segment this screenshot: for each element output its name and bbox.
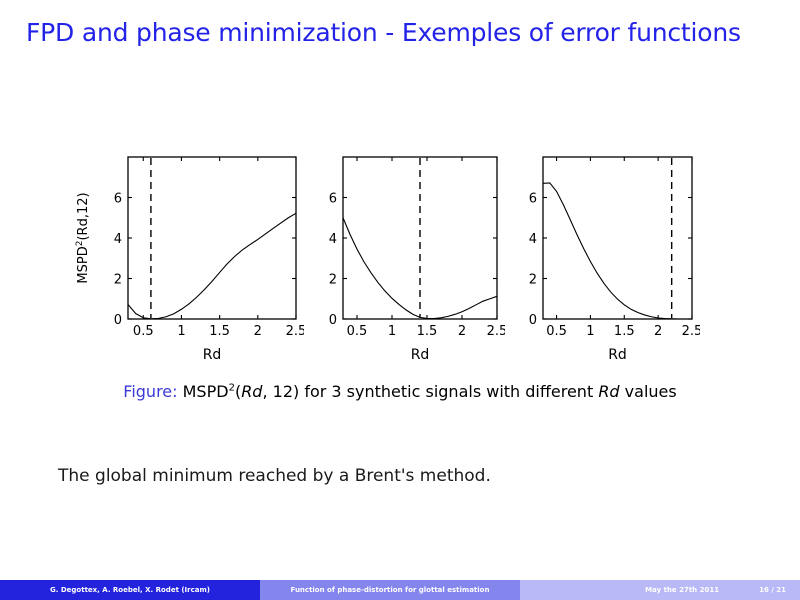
figure-caption-text3: , 12) for 3 synthetic signals with diffe… — [262, 382, 598, 401]
slide-footer: G. Degottex, A. Roebel, X. Rodet (Ircam)… — [0, 580, 800, 600]
svg-text:1: 1 — [388, 324, 396, 339]
svg-text:0: 0 — [114, 313, 122, 328]
figure-caption-var2: Rd — [598, 382, 619, 401]
svg-text:2.5: 2.5 — [286, 324, 304, 339]
plot-svg-3: 0.511.522.50246Rd — [520, 150, 700, 370]
plot-panel-3: 0.511.522.50246Rd — [520, 150, 700, 370]
figure-caption-text1: MSPD — [183, 382, 229, 401]
svg-text:4: 4 — [329, 232, 337, 247]
plot-curve — [128, 213, 296, 318]
svg-text:1.5: 1.5 — [417, 324, 438, 339]
plot-curve — [543, 183, 692, 319]
svg-text:1: 1 — [586, 324, 594, 339]
x-axis-label: Rd — [411, 347, 430, 363]
plot-svg-2: 0.511.522.50246Rd — [320, 150, 505, 370]
svg-text:6: 6 — [529, 192, 537, 207]
footer-authors: G. Degottex, A. Roebel, X. Rodet (Ircam) — [0, 580, 260, 600]
y-axis-label: MSPD2(Rd,12) — [75, 192, 91, 283]
x-axis-label: Rd — [203, 347, 222, 363]
svg-text:0.5: 0.5 — [347, 324, 368, 339]
svg-text:2.5: 2.5 — [487, 324, 505, 339]
plot-svg-1: 0.511.522.50246RdMSPD2(Rd,12) — [60, 150, 304, 370]
svg-text:2.5: 2.5 — [682, 324, 700, 339]
x-axis-label: Rd — [608, 347, 627, 363]
footer-paper-title: Function of phase-distortion for glottal… — [260, 580, 520, 600]
plot-panel-1: 0.511.522.50246RdMSPD2(Rd,12) — [60, 150, 304, 370]
figure-caption-key: Figure: — [123, 382, 177, 401]
svg-text:6: 6 — [114, 192, 122, 207]
svg-text:4: 4 — [529, 232, 537, 247]
svg-text:2: 2 — [254, 324, 262, 339]
plot-panel-2: 0.511.522.50246Rd — [320, 150, 505, 370]
footer-meta: May the 27th 2011 16 / 21 — [520, 580, 800, 600]
figure-plots-container: 0.511.522.50246RdMSPD2(Rd,12) 0.511.522.… — [0, 150, 800, 380]
figure-caption-var1: Rd — [241, 382, 262, 401]
svg-text:1.5: 1.5 — [209, 324, 230, 339]
svg-text:2: 2 — [329, 273, 337, 288]
svg-text:2: 2 — [529, 273, 537, 288]
svg-text:0.5: 0.5 — [133, 324, 154, 339]
figure-caption-text4: values — [620, 382, 677, 401]
svg-text:6: 6 — [329, 192, 337, 207]
svg-text:0.5: 0.5 — [546, 324, 567, 339]
svg-text:2: 2 — [654, 324, 662, 339]
svg-text:2: 2 — [458, 324, 466, 339]
svg-text:1.5: 1.5 — [614, 324, 635, 339]
figure-caption: Figure: MSPD2(Rd, 12) for 3 synthetic si… — [0, 382, 800, 401]
slide-body-text: The global minimum reached by a Brent's … — [58, 466, 491, 486]
svg-text:1: 1 — [177, 324, 185, 339]
svg-text:0: 0 — [329, 313, 337, 328]
page-title: FPD and phase minimization - Exemples of… — [26, 18, 786, 47]
svg-text:0: 0 — [529, 313, 537, 328]
svg-text:2: 2 — [114, 273, 122, 288]
svg-text:4: 4 — [114, 232, 122, 247]
footer-page-number: 16 / 21 — [759, 586, 786, 594]
footer-date: May the 27th 2011 — [645, 586, 719, 594]
